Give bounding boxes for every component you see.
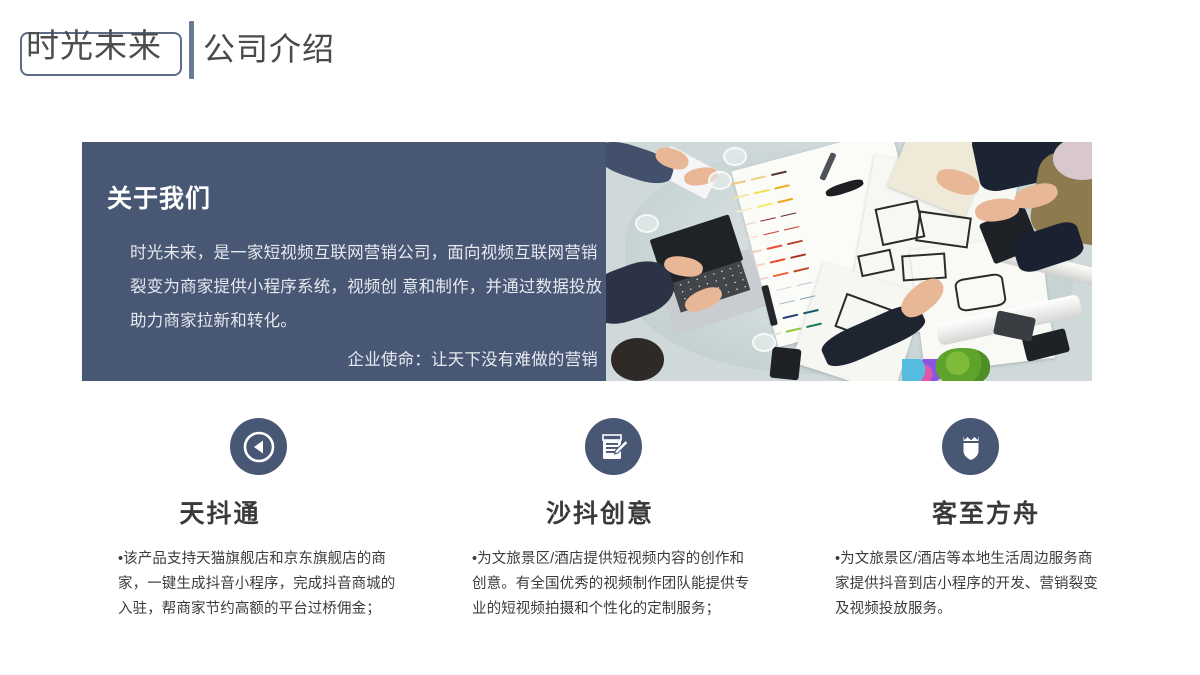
team-meeting-photo [606, 142, 1092, 381]
page-title: 公司介绍 [203, 29, 335, 69]
color-swatch [803, 309, 819, 314]
color-swatch [743, 236, 759, 241]
drinking-glass [708, 171, 732, 190]
feature-column-1: 天抖通 •该产品支持天猫旗舰店和京东旗舰店的商家，一键生成抖音小程序，完成抖音商… [0, 418, 400, 668]
color-swatch [793, 268, 809, 273]
color-swatch [774, 185, 790, 190]
about-text-area: 关于我们 时光未来，是一家短视频互联网营销公司，面向视频互联网营销裂变为商家提供… [82, 142, 606, 381]
document-pencil-icon [585, 418, 642, 475]
color-swatch [736, 208, 752, 213]
photo-canvas [606, 142, 1092, 381]
feature-title: 天抖通 [40, 499, 400, 529]
color-swatch [740, 222, 756, 227]
color-swatch [766, 245, 782, 250]
about-us-panel: 关于我们 时光未来，是一家短视频互联网营销公司，面向视频互联网营销裂变为商家提供… [82, 142, 1092, 381]
page-header: 时光未来 公司介绍 [0, 0, 1200, 110]
color-swatch [773, 272, 789, 277]
color-swatch [780, 212, 796, 217]
feature-title: 沙抖创意 [400, 499, 800, 529]
logo-text: 时光未来 [26, 26, 162, 66]
crown-shield-icon [942, 418, 999, 475]
color-swatch [760, 217, 776, 222]
header-divider [189, 21, 194, 79]
color-swatch [782, 314, 798, 319]
color-swatch [784, 226, 800, 231]
feature-columns: 天抖通 •该产品支持天猫旗舰店和京东旗舰店的商家，一键生成抖音小程序，完成抖音商… [0, 418, 1200, 668]
color-swatch [757, 203, 773, 208]
about-mission-text: 企业使命：让天下没有难做的营销 [348, 347, 599, 373]
floorplan-line [902, 253, 947, 282]
color-swatch [770, 259, 786, 264]
person-head [611, 338, 664, 381]
drinking-glass [723, 147, 747, 166]
color-swatch [776, 286, 792, 291]
color-swatch [787, 240, 803, 245]
about-heading: 关于我们 [107, 184, 211, 214]
color-swatch [733, 194, 749, 199]
color-swatch [754, 189, 770, 194]
smartphone-device [770, 346, 802, 380]
play-circle-icon [230, 418, 287, 475]
potted-plant [936, 348, 989, 381]
color-swatch [763, 231, 779, 236]
color-swatch [779, 300, 795, 305]
feature-description: •为文旅景区/酒店等本地生活周边服务商家提供抖音到店小程序的开发、营销裂变及视频… [835, 547, 1105, 622]
feature-column-3: 客至方舟 •为文旅景区/酒店等本地生活周边服务商家提供抖音到店小程序的开发、营销… [800, 418, 1200, 668]
feature-description: •为文旅景区/酒店提供短视频内容的创作和创意。有全国优秀的视频制作团队能提供专业… [472, 547, 752, 622]
feature-description: •该产品支持天猫旗舰店和京东旗舰店的商家，一键生成抖音小程序，完成抖音商城的入驻… [118, 547, 396, 622]
color-swatch [777, 199, 793, 204]
color-swatch [796, 282, 812, 287]
color-swatch [790, 254, 806, 259]
feature-title: 客至方舟 [772, 499, 1200, 529]
feature-column-2: 沙抖创意 •为文旅景区/酒店提供短视频内容的创作和创意。有全国优秀的视频制作团队… [400, 418, 800, 668]
about-body-text: 时光未来，是一家短视频互联网营销公司，面向视频互联网营销裂变为商家提供小程序系统… [130, 236, 608, 338]
color-swatch [800, 295, 816, 300]
drinking-glass [635, 214, 659, 233]
